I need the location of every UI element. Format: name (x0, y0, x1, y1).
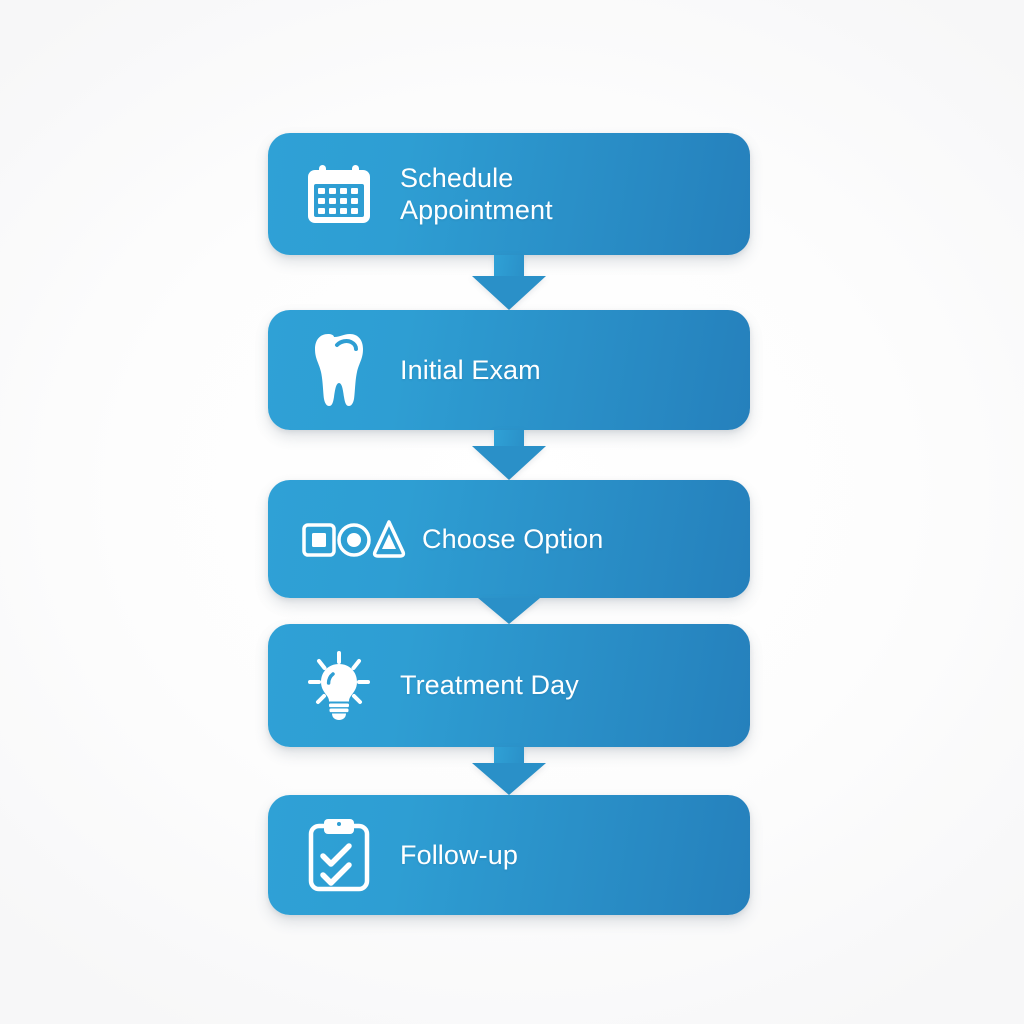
flow-step-label: Treatment Day (400, 669, 579, 701)
clipboard-check-icon (302, 818, 376, 892)
flow-step-initial-exam[interactable]: Initial Exam (268, 310, 750, 430)
flowchart-canvas: Schedule Appointment Initial Exam (0, 0, 1024, 1024)
arrow-down-icon (472, 255, 546, 310)
flow-connector-4 (268, 747, 750, 795)
flow-step-follow-up[interactable]: Follow-up (268, 795, 750, 915)
flow-connector-2 (268, 430, 750, 480)
arrow-down-icon (472, 598, 546, 624)
flow-step-label: Choose Option (422, 523, 603, 555)
shapes-options-icon (302, 502, 406, 576)
arrow-down-icon (472, 430, 546, 480)
flow-step-label: Follow-up (400, 839, 518, 871)
flow-step-treatment-day[interactable]: Treatment Day (268, 624, 750, 747)
flow-connector-3 (268, 598, 750, 624)
flowchart-steps-stack: Schedule Appointment Initial Exam (268, 133, 750, 915)
lightbulb-icon (302, 649, 376, 723)
flow-step-label: Initial Exam (400, 354, 541, 386)
flow-connector-1 (268, 255, 750, 310)
flow-step-choose-option[interactable]: Choose Option (268, 480, 750, 598)
flow-step-schedule-appointment[interactable]: Schedule Appointment (268, 133, 750, 255)
calendar-icon (302, 157, 376, 231)
arrow-down-icon (472, 747, 546, 795)
tooth-icon (302, 333, 376, 407)
flow-step-label: Schedule Appointment (400, 162, 553, 226)
